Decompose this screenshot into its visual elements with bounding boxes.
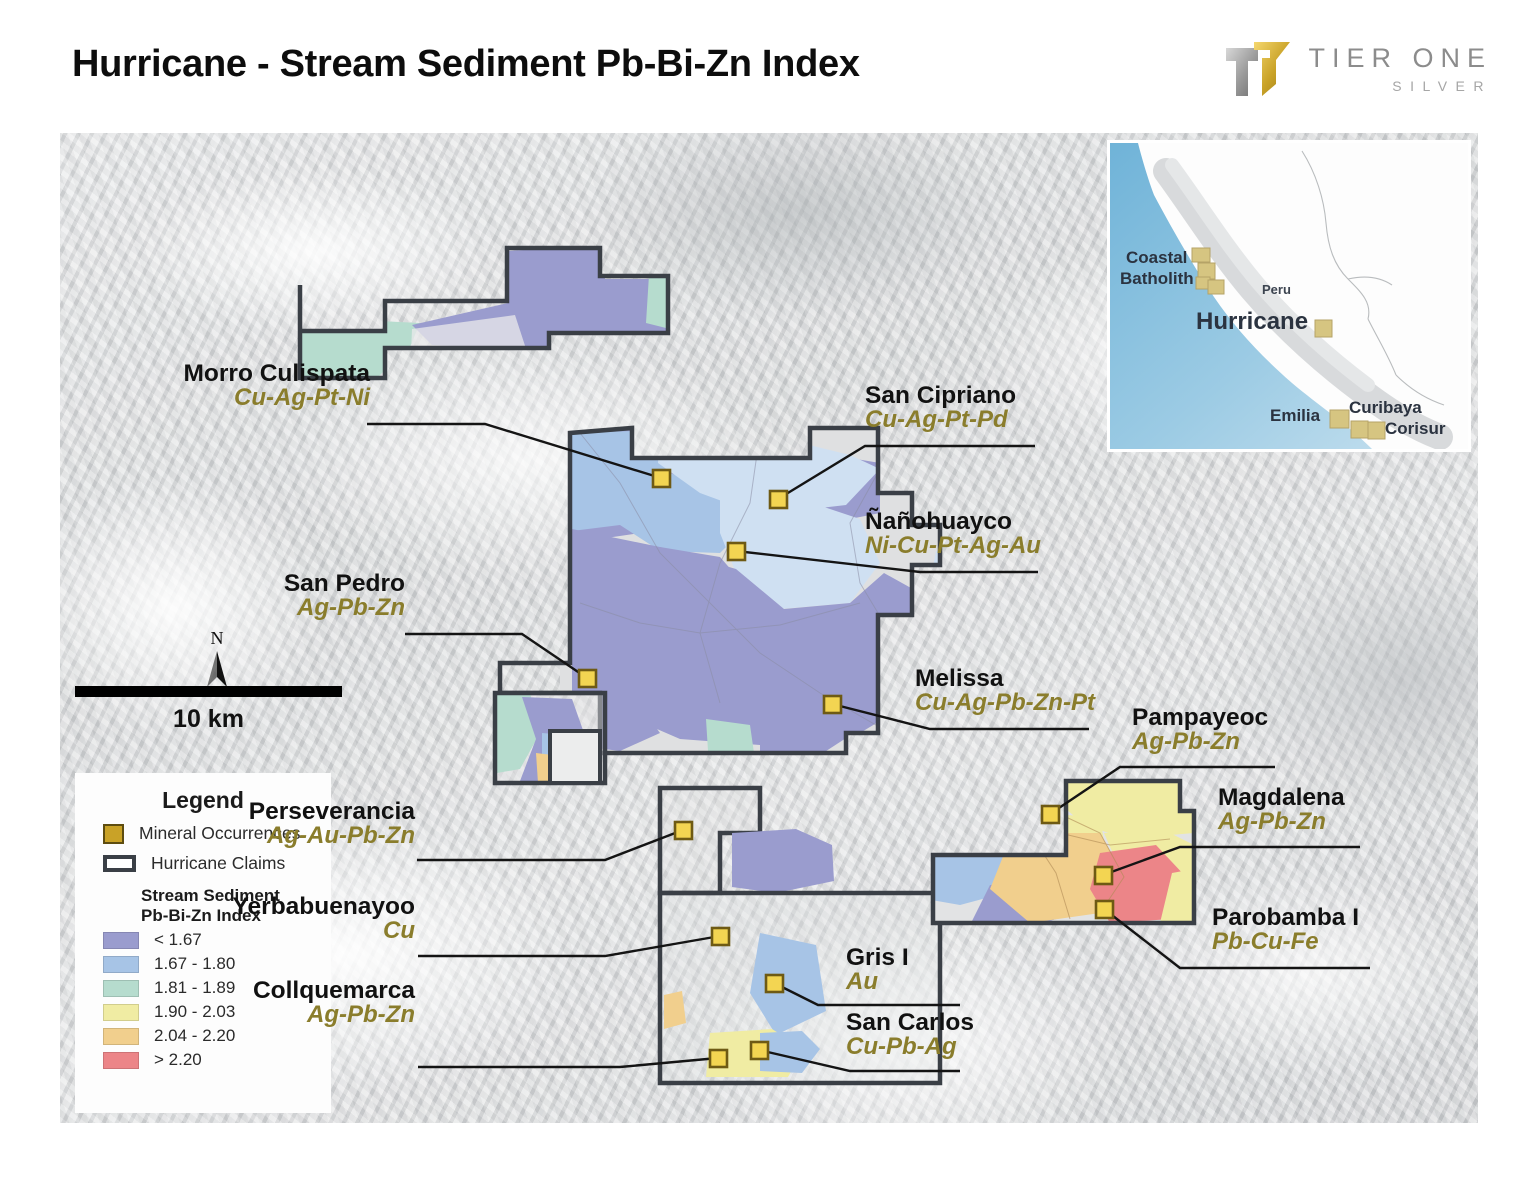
callout-yerbabuenayoo: Yerbabuenayoo Cu	[210, 894, 415, 944]
marker-nanohuayco[interactable]	[728, 543, 745, 560]
legend-ramp-row-5: > 2.20	[75, 1050, 331, 1070]
callout-name-pampayeoc: Pampayeoc	[1132, 705, 1322, 730]
callout-name-parobamba-i: Parobamba I	[1212, 905, 1412, 930]
ramp-swatch-204-220-icon	[103, 1028, 139, 1045]
ramp-swatch-190-203-icon	[103, 1004, 139, 1021]
callout-elements-melissa: Cu-Ag-Pb-Zn-Pt	[915, 691, 1145, 716]
callout-magdalena: Magdalena Ag-Pb-Zn	[1218, 785, 1408, 835]
callout-elements-magdalena: Ag-Pb-Zn	[1218, 810, 1408, 835]
marker-yerbabuenayoo[interactable]	[712, 928, 729, 945]
inset-locator-map[interactable]: Coastal Batholith Peru Hurricane Emilia …	[1107, 140, 1471, 452]
callout-elements-pampayeoc: Ag-Pb-Zn	[1132, 730, 1322, 755]
callout-gris-i: Gris I Au	[846, 945, 1006, 995]
inset-label-batholith: Batholith	[1120, 270, 1194, 288]
callout-name-morro-culispata: Morro Culispata	[165, 361, 370, 386]
ramp-swatch-181-189-icon	[103, 980, 139, 997]
marker-parobamba-i[interactable]	[1096, 901, 1113, 918]
callout-elements-san-carlos: Cu-Pb-Ag	[846, 1035, 1026, 1060]
callout-name-san-pedro: San Pedro	[205, 571, 405, 596]
ramp-swatch-167-180-icon	[103, 956, 139, 973]
callout-melissa: Melissa Cu-Ag-Pb-Zn-Pt	[915, 666, 1145, 716]
callout-morro-culispata: Morro Culispata Cu-Ag-Pt-Ni	[165, 361, 370, 411]
ramp-label-1: 1.67 - 1.80	[154, 954, 235, 974]
legend-item-hurricane-claims: Hurricane Claims	[75, 853, 331, 874]
callout-elements-parobamba-i: Pb-Cu-Fe	[1212, 930, 1412, 955]
ramp-label-4: 2.04 - 2.20	[154, 1026, 235, 1046]
inset-label-hurricane: Hurricane	[1196, 309, 1308, 334]
north-arrow: N	[190, 628, 244, 694]
ramp-label-0: < 1.67	[154, 930, 202, 950]
logo-name: TIER ONE	[1308, 44, 1492, 72]
callout-elements-yerbabuenayoo: Cu	[210, 919, 415, 944]
callout-elements-perseverancia: Ag-Au-Pb-Zn	[210, 824, 415, 849]
callout-elements-collquemarca: Ag-Pb-Zn	[210, 1003, 415, 1028]
marker-pampayeoc[interactable]	[1042, 806, 1059, 823]
callout-name-collquemarca: Collquemarca	[210, 978, 415, 1003]
ramp-swatch-gt220-icon	[103, 1052, 139, 1069]
map-canvas[interactable]: N 10 km Legend Mineral Occurrences Hurri…	[60, 133, 1478, 1123]
callout-san-pedro: San Pedro Ag-Pb-Zn	[205, 571, 405, 621]
callout-name-gris-i: Gris I	[846, 945, 1006, 970]
inset-site-curibaya	[1351, 421, 1368, 438]
marker-magdalena[interactable]	[1095, 867, 1112, 884]
inset-site-coastal-4	[1208, 280, 1224, 294]
north-arrow-label: N	[190, 628, 244, 649]
inset-site-coastal-1	[1192, 248, 1210, 262]
legend-ramp-row-1: 1.67 - 1.80	[75, 954, 331, 974]
inset-label-coastal: Coastal	[1126, 249, 1187, 267]
marker-san-cipriano[interactable]	[770, 491, 787, 508]
legend-ramp-row-4: 2.04 - 2.20	[75, 1026, 331, 1046]
legend-label-hurricane-claims: Hurricane Claims	[151, 853, 285, 874]
southwest-sub-block	[495, 693, 605, 783]
logo-subtitle: SILVER	[1308, 78, 1492, 94]
callout-name-magdalena: Magdalena	[1218, 785, 1408, 810]
tier-one-logo-mark-icon	[1224, 40, 1294, 98]
callout-name-nanohuayco: Ñañohuayco	[865, 509, 1105, 534]
tier-one-silver-logo: TIER ONE SILVER	[1224, 38, 1492, 100]
inset-label-corisur: Corisur	[1385, 420, 1445, 438]
marker-melissa[interactable]	[824, 696, 841, 713]
callout-collquemarca: Collquemarca Ag-Pb-Zn	[210, 978, 415, 1028]
callout-san-carlos: San Carlos Cu-Pb-Ag	[846, 1010, 1026, 1060]
ramp-label-5: > 2.20	[154, 1050, 202, 1070]
callout-elements-san-cipriano: Cu-Ag-Pt-Pd	[865, 408, 1065, 433]
callout-pampayeoc: Pampayeoc Ag-Pb-Zn	[1132, 705, 1322, 755]
callout-name-san-cipriano: San Cipriano	[865, 383, 1065, 408]
north-arrow-icon	[190, 649, 244, 689]
inset-site-hurricane	[1315, 320, 1332, 337]
marker-gris-i[interactable]	[766, 975, 783, 992]
callout-name-san-carlos: San Carlos	[846, 1010, 1026, 1035]
inset-label-curibaya: Curibaya	[1349, 399, 1422, 417]
callout-elements-nanohuayco: Ni-Cu-Pt-Ag-Au	[865, 534, 1105, 559]
inset-label-emilia: Emilia	[1270, 407, 1320, 425]
callout-elements-gris-i: Au	[846, 970, 1006, 995]
marker-san-carlos[interactable]	[751, 1042, 768, 1059]
page-header: Hurricane - Stream Sediment Pb-Bi-Zn Ind…	[0, 0, 1538, 126]
scale-bar-label: 10 km	[75, 705, 342, 734]
callout-perseverancia: Perseverancia Ag-Au-Pb-Zn	[210, 799, 415, 849]
marker-perseverancia[interactable]	[675, 822, 692, 839]
marker-san-pedro[interactable]	[579, 670, 596, 687]
callout-nanohuayco: Ñañohuayco Ni-Cu-Pt-Ag-Au	[865, 509, 1105, 559]
marker-morro-culispata[interactable]	[653, 470, 670, 487]
inset-site-emilia	[1330, 410, 1349, 428]
inset-label-peru: Peru	[1262, 283, 1291, 297]
scale-bar	[75, 686, 342, 697]
callout-parobamba-i: Parobamba I Pb-Cu-Fe	[1212, 905, 1412, 955]
callout-elements-san-pedro: Ag-Pb-Zn	[205, 596, 405, 621]
callout-name-perseverancia: Perseverancia	[210, 799, 415, 824]
mineral-occurrence-swatch-icon	[103, 824, 124, 844]
callout-elements-morro-culispata: Cu-Ag-Pt-Ni	[165, 386, 370, 411]
marker-collquemarca[interactable]	[710, 1050, 727, 1067]
claim-outline-swatch-icon	[103, 855, 136, 872]
callout-san-cipriano: San Cipriano Cu-Ag-Pt-Pd	[865, 383, 1065, 433]
ramp-swatch-lt167-icon	[103, 932, 139, 949]
callout-name-melissa: Melissa	[915, 666, 1145, 691]
inset-site-corisur	[1368, 422, 1385, 439]
callout-name-yerbabuenayoo: Yerbabuenayoo	[210, 894, 415, 919]
page-title: Hurricane - Stream Sediment Pb-Bi-Zn Ind…	[72, 43, 860, 86]
